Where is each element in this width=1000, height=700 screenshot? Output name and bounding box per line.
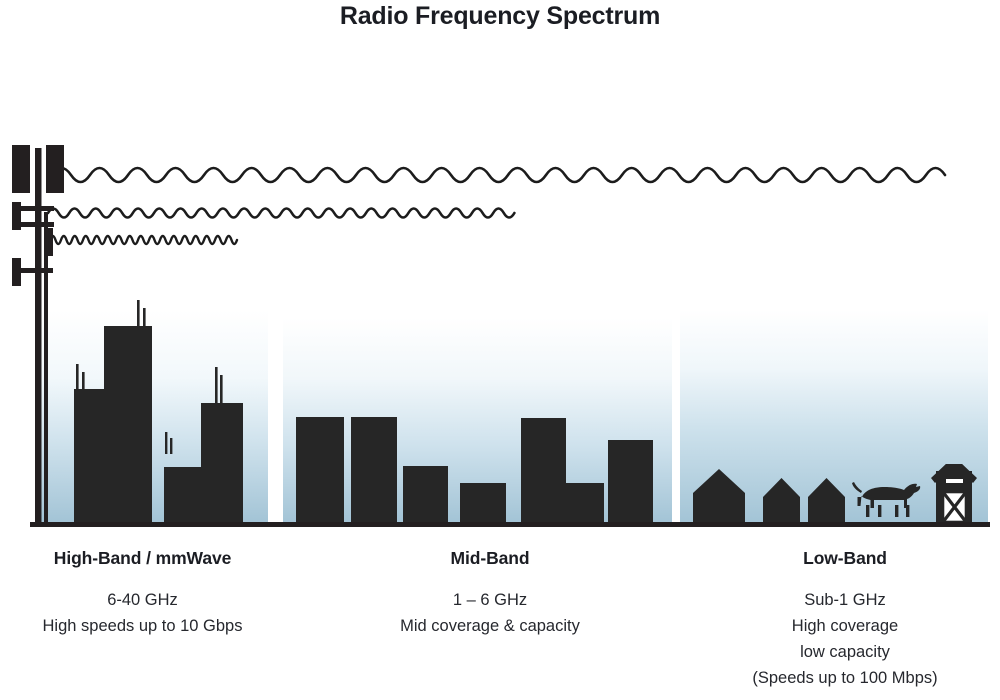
antenna-panel-mid-right [44, 228, 53, 256]
band-column-high-band: High-Band / mmWave 6-40 GHz High speeds … [0, 548, 285, 639]
building-high-1 [74, 389, 104, 522]
building-high-5 [201, 403, 243, 522]
building-mid-5 [521, 418, 566, 522]
building-spire [170, 438, 172, 454]
building-mid-4 [460, 483, 506, 522]
building-mid-2 [351, 417, 397, 522]
high-frequency-wave [50, 236, 237, 244]
band-description-mid-band: Mid coverage & capacity [350, 613, 630, 639]
building-spire [137, 300, 140, 326]
band-column-low-band: Low-Band Sub-1 GHz High coverage low cap… [700, 548, 990, 691]
building-mid-3 [403, 466, 448, 522]
band-coverage-low-band: High coverage [700, 613, 990, 639]
antenna-panel-top-left [12, 145, 30, 193]
building-spire [220, 375, 223, 404]
barn-icon [931, 464, 977, 522]
barn-loft-window [946, 479, 963, 483]
building-high-3 [104, 444, 152, 522]
tower-mast-secondary [44, 212, 48, 522]
antenna-panel-top-right [46, 145, 64, 193]
band-capacity-low-band: low capacity [700, 639, 990, 665]
infographic-root: Radio Frequency Spectrum [0, 0, 1000, 700]
band-description-high-band: High speeds up to 10 Gbps [0, 613, 285, 639]
band-title-mid-band: Mid-Band [350, 548, 630, 569]
building-spire [143, 308, 146, 326]
tower-crossbar-upper [18, 206, 54, 211]
band-title-high-band: High-Band / mmWave [0, 548, 285, 569]
tower-mast [35, 148, 42, 522]
building-mid-7 [608, 440, 653, 522]
ground-line [30, 522, 990, 527]
band-title-low-band: Low-Band [700, 548, 990, 569]
band-column-mid-band: Mid-Band 1 – 6 GHz Mid coverage & capaci… [350, 548, 630, 639]
radio-waves [48, 168, 945, 244]
band-frequency-low-band: Sub-1 GHz [700, 587, 990, 613]
building-mid-1 [296, 417, 344, 522]
building-mid-6 [566, 483, 604, 522]
building-high-4 [164, 467, 201, 522]
low-frequency-wave [52, 168, 945, 182]
antenna-panel-lower-left [12, 258, 21, 286]
band-frequency-high-band: 6-40 GHz [0, 587, 285, 613]
band-frequency-mid-band: 1 – 6 GHz [350, 587, 630, 613]
tower-crossbar-mid [18, 222, 54, 227]
mid-frequency-wave [48, 209, 514, 218]
building-spire [215, 367, 218, 404]
building-spire [165, 432, 167, 454]
band-speed-low-band: (Speeds up to 100 Mbps) [700, 665, 990, 691]
antenna-panel-mid-left [12, 202, 21, 230]
